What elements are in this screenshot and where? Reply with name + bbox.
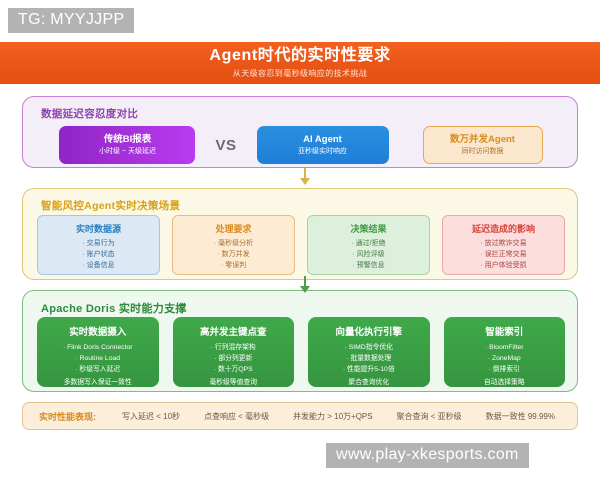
list-item: 行列混存架构 (209, 343, 257, 354)
list-item: 性能提升5-10倍 (343, 365, 395, 376)
feature-card-data-ingestion: 实时数据摄入 Flink Doris Connector Routine Loa… (37, 317, 159, 387)
telegram-watermark: TG: MYYJJPP (8, 8, 134, 33)
feature-card-title: 实时数据摄入 (69, 324, 126, 338)
list-item: BloomFilter (484, 343, 525, 354)
section1-row: 传统BI报表 小时级 ~ 天级延迟 VS AI Agent 亚秒级实时响应 数万… (23, 125, 579, 165)
ai-agent-detail: 亚秒级实时响应 (298, 148, 347, 156)
feature-card-footer: 聚合查询优化 (343, 378, 395, 389)
mini-card-list: 通过/拒绝 风险评级 预警信息 (351, 239, 385, 272)
list-item: 数万并发 (214, 250, 253, 261)
ai-agent-pill: AI Agent 亚秒级实时响应 (257, 126, 389, 164)
mini-card-list: 毫秒级分析 数万并发 零误判 (214, 239, 253, 272)
performance-metrics-bar: 实时性能表现: 写入延迟 < 10秒 点查响应 < 毫秒级 并发能力 > 10万… (22, 402, 578, 430)
site-watermark: www.play-xkesports.com (326, 443, 529, 468)
mini-card-latency-impact: 延迟造成的影响 放过欺诈交易 误拦正常交易 用户体验受损 (442, 215, 565, 275)
concurrent-agents-pill: 数万并发Agent 同时访问数据 (423, 126, 543, 164)
mini-card-data-source: 实时数据源 交易行为 账户状态 设备信息 (37, 215, 160, 275)
list-item: SIMD指令优化 (343, 343, 395, 354)
feature-card-vectorized-engine: 向量化执行引擎 SIMD指令优化 批量数据处理 性能提升5-10倍 聚合查询优化 (308, 317, 430, 387)
legacy-bi-name: 传统BI报表 (104, 134, 152, 145)
feature-card-footer: 多数据写入保证一致性 (63, 378, 133, 389)
section-doris-capabilities: Apache Doris 实时能力支撑 实时数据摄入 Flink Doris C… (22, 290, 578, 392)
list-item: 毫秒级分析 (214, 239, 253, 250)
infographic-page: TG: MYYJJPP www.play-xkesports.com Agent… (0, 0, 600, 480)
feature-card-footer: 自动选择策略 (484, 378, 525, 389)
metric-consistency: 数据一致性 99.99% (486, 411, 555, 422)
feature-card-list: Flink Doris Connector Routine Load 秒级写入延… (63, 343, 133, 389)
legacy-bi-pill: 传统BI报表 小时级 ~ 天级延迟 (59, 126, 195, 164)
list-item: 账户状态 (82, 250, 114, 261)
section2-title: 智能风控Agent实时决策场景 (41, 198, 180, 213)
list-item: 秒级写入延迟 (63, 365, 133, 376)
concurrent-agents-name: 数万并发Agent (450, 134, 515, 145)
metric-concurrency: 并发能力 > 10万+QPS (293, 411, 373, 422)
metrics-items: 写入延迟 < 10秒 点查响应 < 毫秒级 并发能力 > 10万+QPS 聚合查… (122, 411, 561, 422)
mini-card-title: 处理要求 (215, 222, 251, 235)
list-item: 倒排索引 (484, 365, 525, 376)
feature-card-list: 行列混存架构 部分列更新 数十万QPS 毫秒级等值查询 (209, 343, 257, 389)
header-banner: Agent时代的实时性要求 从天级容忍到毫秒级响应的技术挑战 (0, 42, 600, 84)
list-item: Routine Load (63, 354, 133, 365)
feature-card-list: SIMD指令优化 批量数据处理 性能提升5-10倍 聚合查询优化 (343, 343, 395, 389)
list-item: 放过欺诈交易 (480, 239, 526, 250)
list-item: 数十万QPS (209, 365, 257, 376)
mini-card-decision-result: 决策结果 通过/拒绝 风险评级 预警信息 (307, 215, 430, 275)
list-item: 用户体验受损 (480, 261, 526, 272)
feature-card-list: BloomFilter ZoneMap 倒排索引 自动选择策略 (484, 343, 525, 389)
mini-card-list: 交易行为 账户状态 设备信息 (82, 239, 114, 272)
list-item: 预警信息 (351, 261, 385, 272)
feature-card-smart-index: 智能索引 BloomFilter ZoneMap 倒排索引 自动选择策略 (444, 317, 566, 387)
section1-title: 数据延迟容忍度对比 (41, 106, 138, 121)
vs-label: VS (211, 137, 240, 154)
list-item: 设备信息 (82, 261, 114, 272)
metric-write-latency: 写入延迟 < 10秒 (122, 411, 180, 422)
mini-card-title: 延迟造成的影响 (472, 222, 535, 235)
mini-card-list: 放过欺诈交易 误拦正常交易 用户体验受损 (480, 239, 526, 272)
feature-card-footer: 毫秒级等值查询 (209, 378, 257, 389)
mini-card-processing-requirements: 处理要求 毫秒级分析 数万并发 零误判 (172, 215, 295, 275)
metric-point-query: 点查响应 < 毫秒级 (204, 411, 269, 422)
list-item: Flink Doris Connector (63, 343, 133, 354)
mini-card-title: 决策结果 (350, 222, 386, 235)
section3-row: 实时数据摄入 Flink Doris Connector Routine Loa… (37, 317, 565, 387)
arrow-down-icon-1 (300, 168, 310, 188)
list-item: 误拦正常交易 (480, 250, 526, 261)
section-latency-comparison: 数据延迟容忍度对比 传统BI报表 小时级 ~ 天级延迟 VS AI Agent … (22, 96, 578, 168)
arrow-down-icon-2 (300, 276, 310, 296)
list-item: ZoneMap (484, 354, 525, 365)
list-item: 部分列更新 (209, 354, 257, 365)
metric-aggregate-query: 聚合查询 < 亚秒级 (397, 411, 462, 422)
list-item: 批量数据处理 (343, 354, 395, 365)
list-item: 风险评级 (351, 250, 385, 261)
mini-card-title: 实时数据源 (76, 222, 121, 235)
metrics-label: 实时性能表现: (39, 410, 96, 423)
feature-card-point-query: 高并发主键点查 行列混存架构 部分列更新 数十万QPS 毫秒级等值查询 (173, 317, 295, 387)
page-subtitle: 从天级容忍到毫秒级响应的技术挑战 (233, 68, 367, 79)
feature-card-title: 向量化执行引擎 (335, 324, 402, 338)
section3-title: Apache Doris 实时能力支撑 (41, 300, 187, 316)
list-item: 通过/拒绝 (351, 239, 385, 250)
feature-card-title: 智能索引 (485, 324, 523, 338)
section-risk-scenario: 智能风控Agent实时决策场景 实时数据源 交易行为 账户状态 设备信息 处理要… (22, 188, 578, 280)
list-item: 零误判 (214, 261, 253, 272)
section2-row: 实时数据源 交易行为 账户状态 设备信息 处理要求 毫秒级分析 数万并发 零误判… (37, 215, 565, 275)
page-title: Agent时代的实时性要求 (209, 47, 390, 65)
legacy-bi-detail: 小时级 ~ 天级延迟 (99, 148, 156, 156)
list-item: 交易行为 (82, 239, 114, 250)
concurrent-agents-detail: 同时访问数据 (462, 148, 504, 156)
ai-agent-name: AI Agent (303, 134, 342, 145)
feature-card-title: 高并发主键点查 (200, 324, 267, 338)
